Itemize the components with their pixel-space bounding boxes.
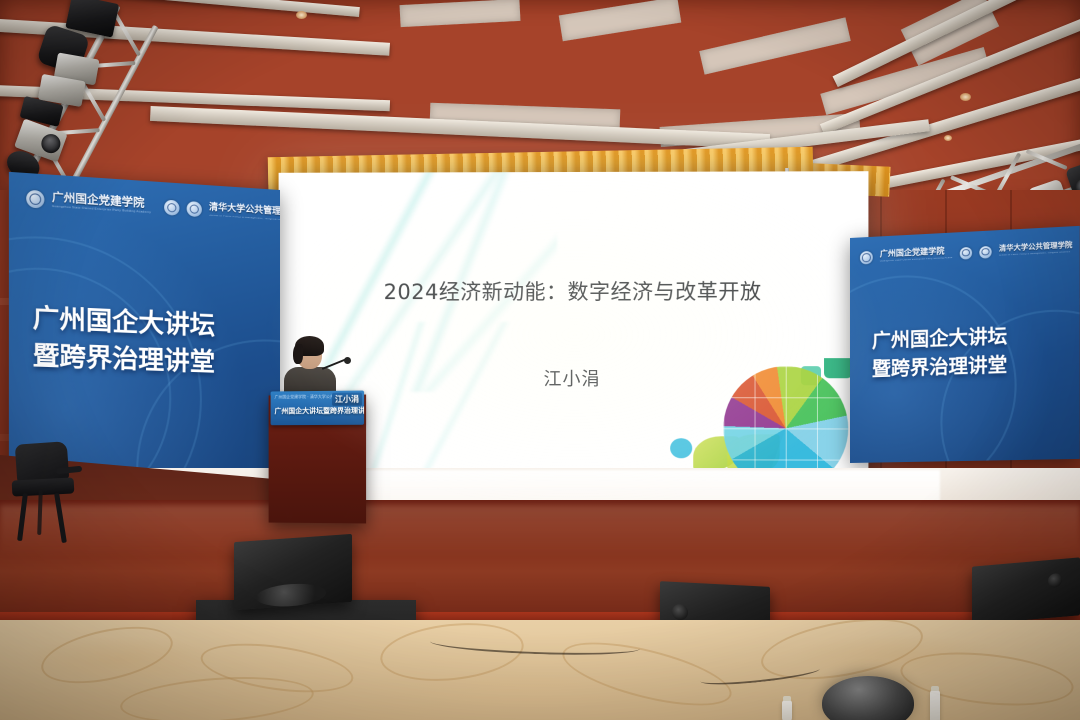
bottle-cap — [783, 696, 791, 701]
carpet-pattern — [377, 620, 526, 687]
event-banner-right: 广州国企党建学院 Guangzhou State-Owned Enterpris… — [850, 226, 1080, 463]
carpet-pattern — [36, 620, 177, 693]
podium-speaker-nameplate: 江小涓 — [332, 393, 362, 406]
mosaic-grid-overlay — [723, 366, 848, 485]
stage-deck-reflection — [0, 505, 1080, 557]
lamp-lens — [39, 131, 63, 155]
chair-seat — [12, 477, 75, 496]
banner-headline-line1: 广州国企大讲坛 — [33, 301, 215, 343]
university-seal-icon — [979, 245, 991, 258]
banner-logo-row: 广州国企党建学院 Guangzhou State-Owned Enterpris… — [26, 190, 280, 225]
university-seal-icon — [187, 201, 202, 217]
banner-logo-row: 广州国企党建学院 Guangzhou State-Owned Enterpris… — [860, 241, 1072, 265]
academy-seal-icon — [960, 246, 972, 259]
audience-carpet — [0, 620, 1080, 720]
stage-chair — [10, 443, 88, 563]
academy-seal-icon — [164, 200, 179, 216]
podium-sign: 广州国企党建学院 · 清华大学公共管理学院 广州国企大讲坛暨跨界治理讲堂 江小涓 — [271, 391, 364, 426]
chair-leg — [54, 493, 67, 543]
slide-canvas: 2024经济新动能：数字经济与改革开放 江小涓 — [279, 171, 869, 485]
ceiling-downlight — [296, 11, 307, 19]
mosaic-dot — [670, 438, 692, 458]
slide-mosaic-graphic — [663, 358, 868, 485]
chair-armrest — [56, 466, 82, 475]
lectern-podium: 广州国企党建学院 · 清华大学公共管理学院 广州国企大讲坛暨跨界治理讲堂 江小涓 — [269, 395, 366, 524]
podium-sign-title: 广州国企大讲坛暨跨界治理讲堂 — [275, 406, 365, 417]
banner-headline-line1: 广州国企大讲坛 — [872, 324, 1007, 354]
stage-monitor-speaker — [972, 557, 1080, 624]
banner-logo-1: 广州国企党建学院 Guangzhou State-Owned Enterpris… — [880, 247, 953, 263]
projection-screen: 2024经济新动能：数字经济与改革开放 江小涓 — [279, 171, 869, 485]
stage-monitor-speaker — [234, 534, 352, 610]
conference-stage-photo: 2024经济新动能：数字经济与改革开放 江小涓 广州国企党建学院 Guangz — [0, 0, 1080, 720]
speaker-driver-cone — [1048, 573, 1062, 588]
speaker-driver-cone — [672, 604, 688, 621]
banner-logo-1: 广州国企党建学院 Guangzhou State-Owned Enterpris… — [52, 192, 157, 215]
banner-headline-line2: 暨跨界治理讲堂 — [33, 338, 215, 379]
presenter-hair — [293, 344, 303, 364]
chair-leg — [17, 493, 28, 541]
ceiling-downlight — [944, 135, 952, 141]
bottle-cap — [931, 686, 939, 691]
academy-seal-icon — [860, 251, 873, 265]
microphone-icon — [344, 357, 351, 364]
carpet-pattern — [898, 645, 1076, 713]
slide-title: 2024经济新动能：数字经济与改革开放 — [279, 276, 869, 306]
banner-logo-2: 清华大学公共管理学院 School of Public Policy & Man… — [999, 242, 1072, 257]
chair-backrest — [15, 441, 70, 483]
chair-leg — [37, 489, 43, 535]
mosaic-circle — [723, 366, 848, 485]
ceiling-downlight — [960, 93, 971, 101]
banner-headline-line2: 暨跨界治理讲堂 — [872, 353, 1007, 383]
water-bottle — [930, 690, 940, 720]
banner-logo-2: 清华大学公共管理学院 School of Public Policy & Man… — [209, 203, 280, 223]
academy-seal-icon — [26, 190, 44, 209]
water-bottle — [782, 700, 792, 720]
